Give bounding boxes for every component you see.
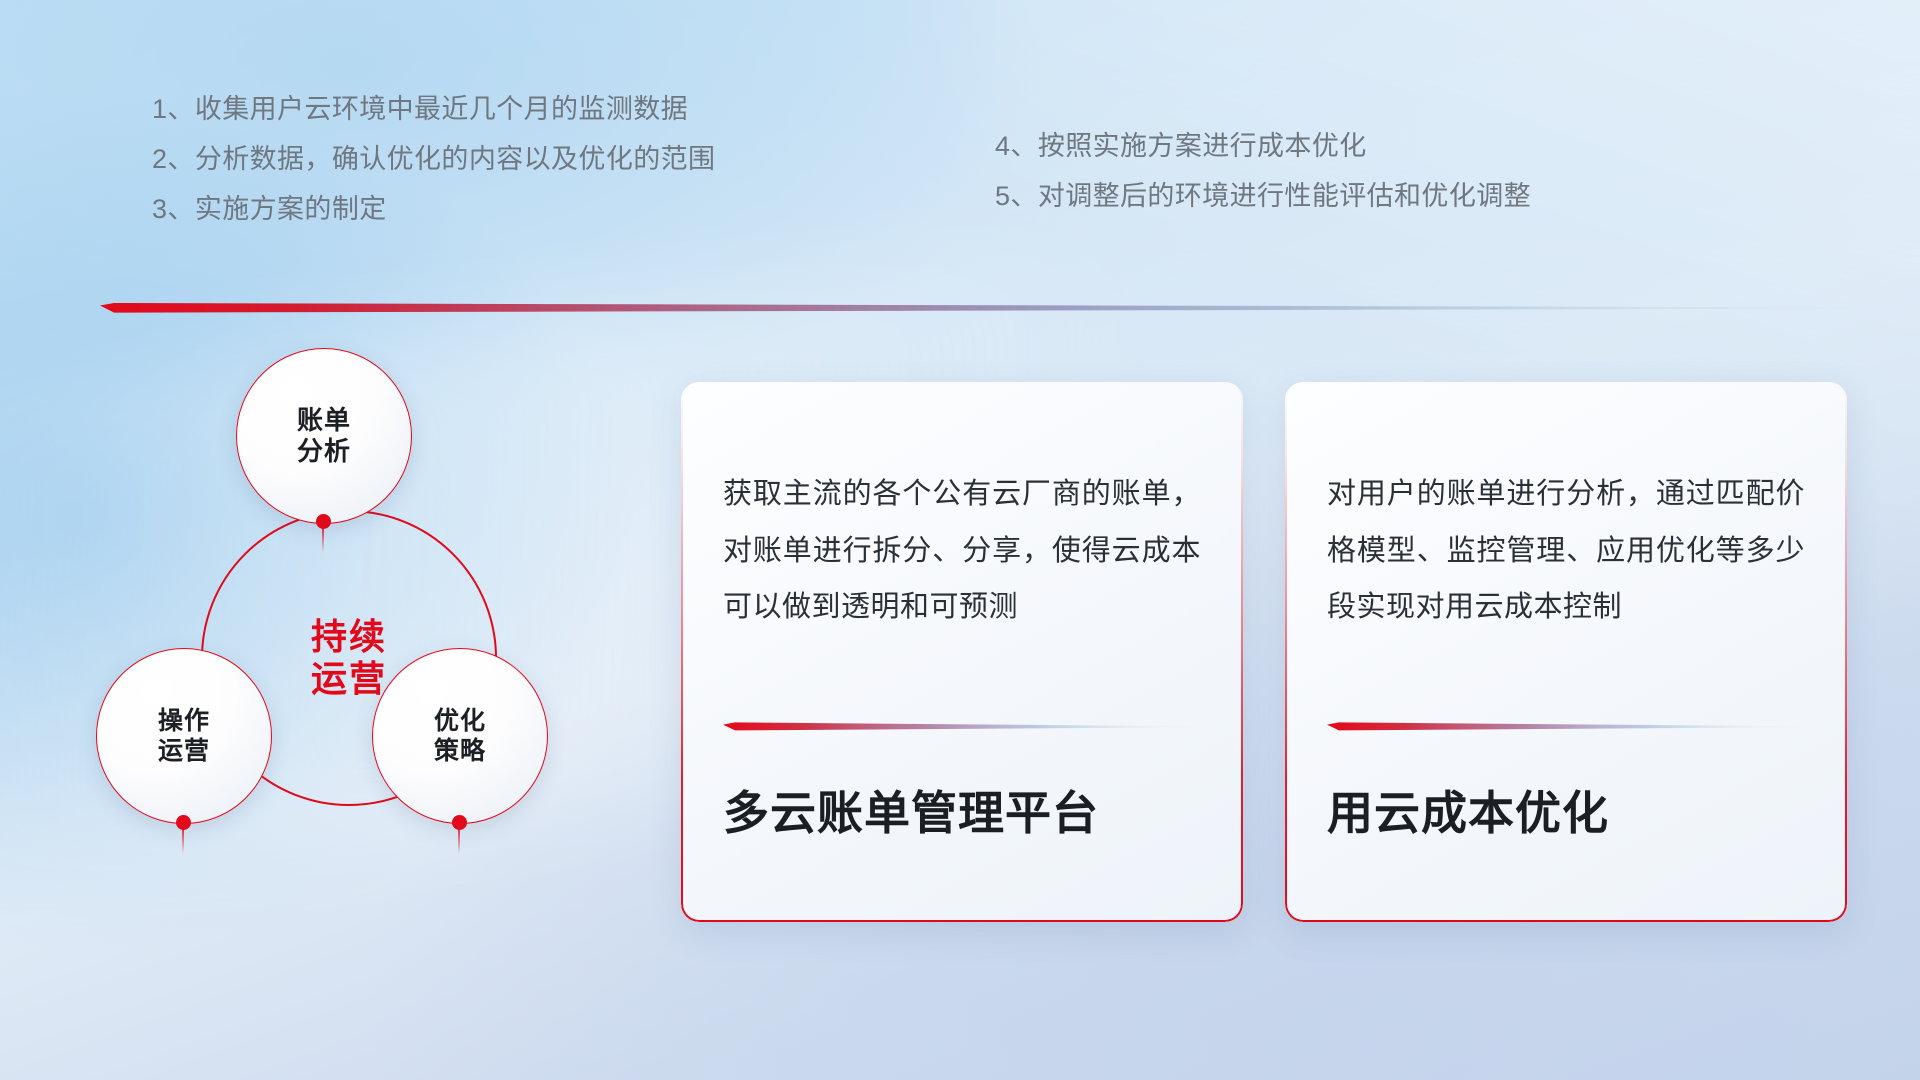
- steps-left-column: 1、收集用户云环境中最近几个月的监测数据 2、分析数据，确认优化的内容以及优化的…: [152, 96, 715, 246]
- card-description: 获取主流的各个公有云厂商的账单，对账单进行拆分、分享，使得云成本可以做到透明和可…: [723, 466, 1201, 636]
- center-label-line-2: 运营: [311, 658, 387, 700]
- diagram-node-dot-left: [176, 815, 191, 830]
- diagram-bubble-bill-analysis[interactable]: 账单 分析: [236, 348, 412, 524]
- diagram-node-dot-right: [452, 815, 467, 830]
- bubble-left-line-2: 运营: [158, 736, 210, 766]
- card-accent-rule: [1327, 720, 1805, 732]
- continuous-operation-diagram: 持续 运营 账单 分析 操作 运营 优化 策略: [96, 348, 636, 938]
- feature-card-cloud-cost-optimization[interactable]: 对用户的账单进行分析，通过匹配价格模型、监控管理、应用优化等多少段实现对用云成本…: [1285, 382, 1847, 922]
- center-label-line-1: 持续: [311, 616, 387, 658]
- card-body: 对用户的账单进行分析，通过匹配价格模型、监控管理、应用优化等多少段实现对用云成本…: [1327, 466, 1805, 636]
- step-item-1: 1、收集用户云环境中最近几个月的监测数据: [152, 96, 715, 123]
- diagram-bubble-operation[interactable]: 操作 运营: [96, 648, 272, 824]
- card-title: 用云成本优化: [1327, 786, 1609, 841]
- bubble-right-line-1: 优化: [434, 706, 486, 736]
- card-accent-rule: [723, 720, 1201, 732]
- step-item-2: 2、分析数据，确认优化的内容以及优化的范围: [152, 146, 715, 173]
- feature-card-multicloud-billing[interactable]: 获取主流的各个公有云厂商的账单，对账单进行拆分、分享，使得云成本可以做到透明和可…: [681, 382, 1243, 922]
- step-item-5: 5、对调整后的环境进行性能评估和优化调整: [995, 183, 1531, 210]
- bubble-top-line-2: 分析: [297, 436, 351, 467]
- bubble-left-line-1: 操作: [158, 706, 210, 736]
- bubble-top-line-1: 账单: [297, 405, 351, 436]
- slide-canvas: 1、收集用户云环境中最近几个月的监测数据 2、分析数据，确认优化的内容以及优化的…: [0, 0, 1920, 1080]
- card-body: 获取主流的各个公有云厂商的账单，对账单进行拆分、分享，使得云成本可以做到透明和可…: [723, 466, 1201, 636]
- bubble-right-line-2: 策略: [434, 736, 486, 766]
- card-description: 对用户的账单进行分析，通过匹配价格模型、监控管理、应用优化等多少段实现对用云成本…: [1327, 466, 1805, 636]
- section-divider: [100, 300, 1872, 314]
- step-item-3: 3、实施方案的制定: [152, 196, 715, 223]
- step-item-4: 4、按照实施方案进行成本优化: [995, 133, 1531, 160]
- diagram-bubble-optimization-strategy[interactable]: 优化 策略: [372, 648, 548, 824]
- diagram-node-dot-top: [316, 514, 331, 529]
- card-title: 多云账单管理平台: [723, 786, 1099, 841]
- steps-right-column: 4、按照实施方案进行成本优化 5、对调整后的环境进行性能评估和优化调整: [995, 133, 1531, 233]
- process-steps: 1、收集用户云环境中最近几个月的监测数据 2、分析数据，确认优化的内容以及优化的…: [0, 96, 1920, 276]
